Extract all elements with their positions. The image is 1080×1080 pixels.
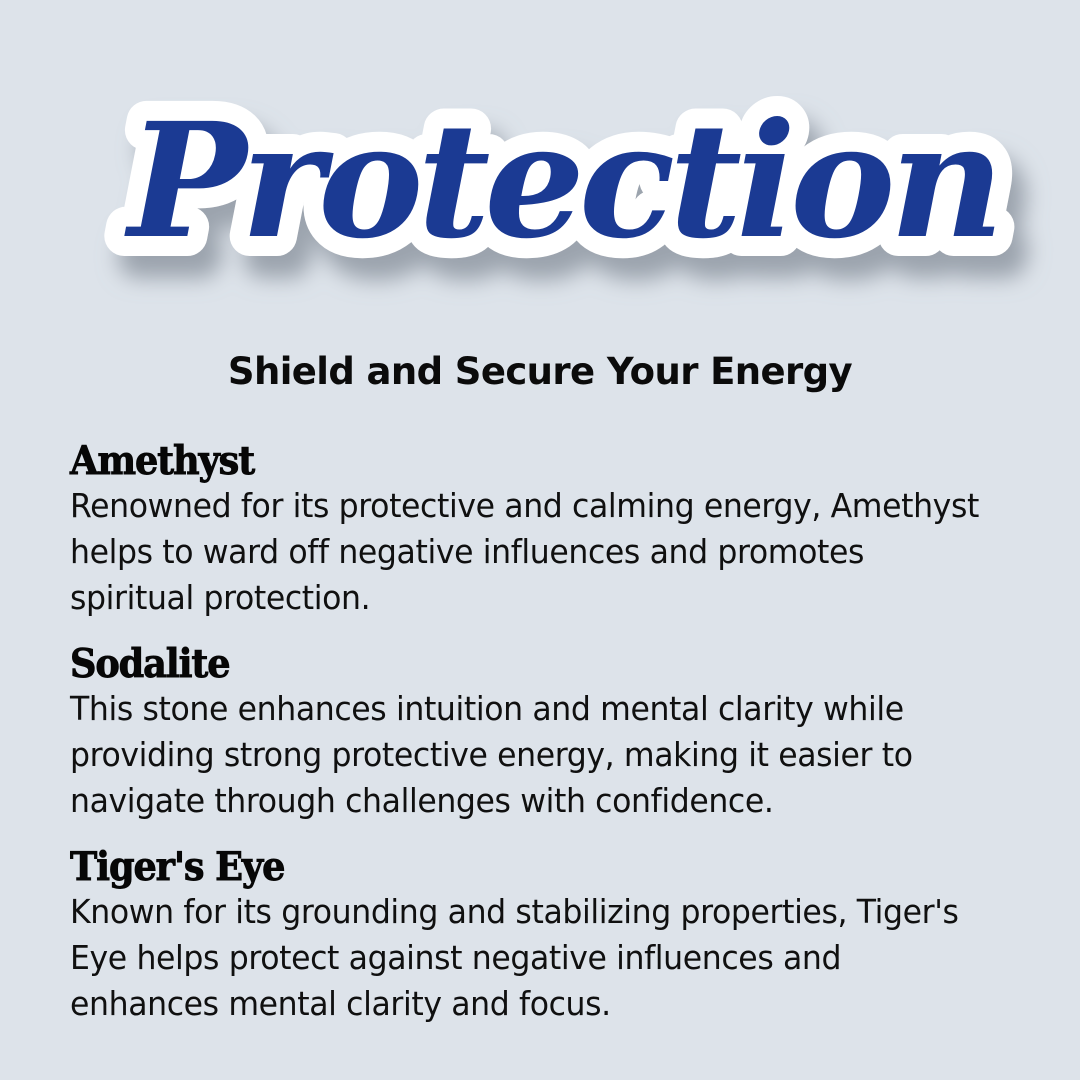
infographic-poster: Protection Protection Shield and Secure … xyxy=(0,0,1080,1080)
stone-description-sodalite: This stone enhances intuition and mental… xyxy=(70,686,990,824)
title-wordart: Protection Protection xyxy=(0,58,1080,313)
stone-name-sodalite: Sodalite xyxy=(70,643,961,685)
subtitle: Shield and Secure Your Energy xyxy=(0,352,1080,393)
stone-list: Amethyst Renowned for its protective and… xyxy=(70,440,1018,1027)
stone-description-amethyst: Renowned for its protective and calming … xyxy=(70,483,990,621)
title-art-container: Protection Protection xyxy=(120,78,960,293)
title-fill-layer: Protection xyxy=(124,89,998,274)
stone-description-tigers-eye: Known for its grounding and stabilizing … xyxy=(70,889,990,1027)
stone-section: Tiger's Eye Known for its grounding and … xyxy=(70,846,1018,1027)
stone-section: Sodalite This stone enhances intuition a… xyxy=(70,643,1018,824)
stone-name-amethyst: Amethyst xyxy=(70,440,961,482)
stone-name-tigers-eye: Tiger's Eye xyxy=(70,846,961,888)
stone-section: Amethyst Renowned for its protective and… xyxy=(70,440,1018,621)
